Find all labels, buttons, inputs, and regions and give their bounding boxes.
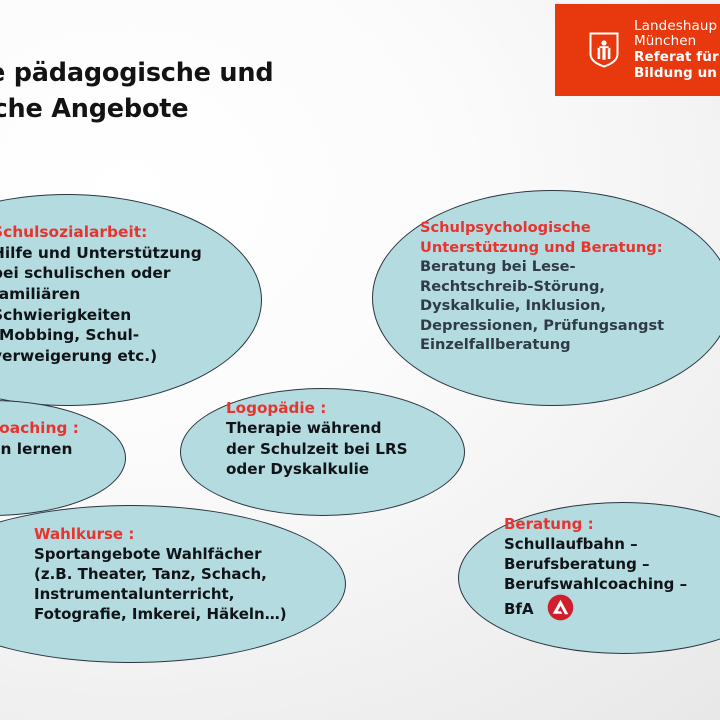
body-line: Beratung bei Lese- bbox=[420, 257, 720, 277]
body-line: oder Dyskalkulie bbox=[226, 459, 476, 479]
ellipse-wahlkurse-text: Wahlkurse : Sportangebote Wahlfächer (z.… bbox=[34, 524, 364, 624]
bfa-agentur-fuer-arbeit-icon bbox=[547, 594, 574, 621]
body-line: Dyskalkulie, Inklusion, bbox=[420, 296, 720, 316]
logo-line-1: Landeshaup bbox=[634, 19, 719, 35]
ellipse-lerncoaching-text: coaching : en lernen bbox=[0, 418, 190, 459]
heading-beratung: Beratung : bbox=[504, 514, 720, 534]
body-line: Berufsberatung – bbox=[504, 554, 720, 574]
body-line: Sportangebote Wahlfächer bbox=[34, 544, 364, 564]
heading-logopaedie: Logopädie : bbox=[226, 398, 476, 418]
body-line: (Mobbing, Schul- bbox=[0, 325, 252, 346]
logo-line-4: Bildung un bbox=[634, 66, 719, 82]
body-line: (z.B. Theater, Tanz, Schach, bbox=[34, 564, 364, 584]
body-line: familiären bbox=[0, 284, 252, 305]
slide-title-line-1: enfreie pädagogische und bbox=[0, 55, 464, 91]
body-line: Depressionen, Prüfungsangst bbox=[420, 316, 720, 336]
ellipse-beratung-text: Beratung : Schullaufbahn – Berufsberatun… bbox=[504, 514, 720, 621]
logo-line-2: München bbox=[634, 34, 719, 50]
body-line: Berufswahlcoaching – bbox=[504, 574, 720, 594]
body-line: Schullaufbahn – bbox=[504, 534, 720, 554]
body-line: verweigerung etc.) bbox=[0, 346, 252, 367]
body-line: Instrumentalunterricht, bbox=[34, 584, 364, 604]
body-line: Einzelfallberatung bbox=[420, 335, 720, 355]
body-line: Schwierigkeiten bbox=[0, 305, 252, 326]
ellipse-schulsozialarbeit-text: Schulsozialarbeit: Hilfe und Unterstützu… bbox=[0, 222, 252, 366]
heading-schulpsychologische-line-1: Schulpsychologische bbox=[420, 218, 720, 238]
heading-schulpsychologische-line-2: Unterstützung und Beratung: bbox=[420, 238, 720, 258]
heading-lerncoaching: coaching : bbox=[0, 418, 190, 439]
body-line: Hilfe und Unterstützung bbox=[0, 243, 252, 264]
munich-coat-of-arms-icon bbox=[589, 32, 619, 68]
city-of-munich-logo: Landeshaup München Referat für Bildung u… bbox=[555, 4, 720, 96]
body-line: bei schulischen oder bbox=[0, 263, 252, 284]
ellipse-logopaedie-text: Logopädie : Therapie während der Schulze… bbox=[226, 398, 476, 479]
heading-schulsozialarbeit: Schulsozialarbeit: bbox=[0, 222, 252, 243]
body-line: Fotografie, Imkerei, Häkeln…) bbox=[34, 604, 364, 624]
body-line: Rechtschreib-Störung, bbox=[420, 277, 720, 297]
logo-wordmark: Landeshaup München Referat für Bildung u… bbox=[634, 19, 719, 82]
body-line-with-badge: BfA bbox=[504, 594, 720, 621]
body-line: en lernen bbox=[0, 439, 190, 460]
body-line-bfa: BfA bbox=[504, 600, 534, 618]
body-line: Therapie während bbox=[226, 418, 476, 438]
slide-canvas: Landeshaup München Referat für Bildung u… bbox=[0, 0, 720, 720]
logo-line-3: Referat für bbox=[634, 50, 719, 66]
body-line: der Schulzeit bei LRS bbox=[226, 439, 476, 459]
ellipse-schulpsychologische-text: Schulpsychologische Unterstützung und Be… bbox=[420, 218, 720, 355]
slide-title: enfreie pädagogische und peutische Angeb… bbox=[0, 55, 464, 127]
slide-title-line-2: peutische Angebote bbox=[0, 91, 464, 127]
heading-wahlkurse: Wahlkurse : bbox=[34, 524, 364, 544]
